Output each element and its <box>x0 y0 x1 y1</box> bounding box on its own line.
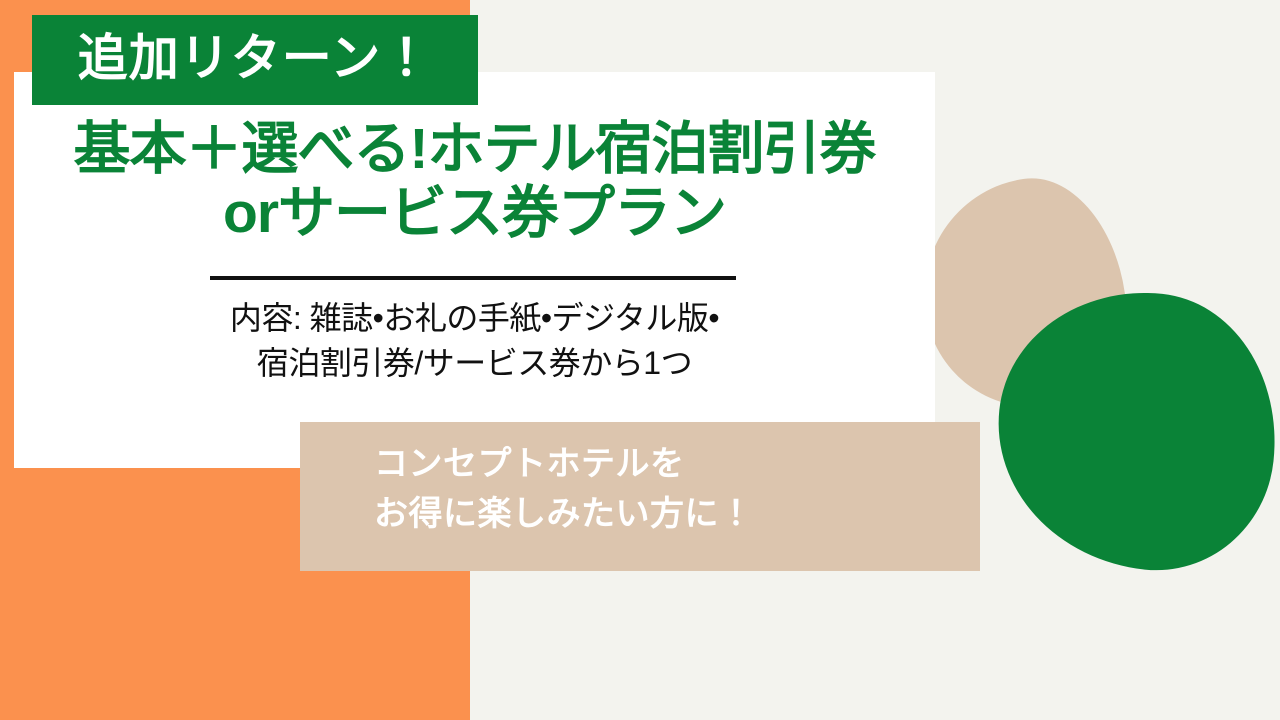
additional-return-badge: 追加リターン！ <box>32 15 478 105</box>
promo-banner: 追加リターン！ 基本＋選べる!ホテル宿泊割引券 orサービス券プラン 内容: 雑… <box>0 0 1280 720</box>
plan-title: 基本＋選べる!ホテル宿泊割引券 orサービス券プラン <box>14 118 935 246</box>
plan-contents-line-1: 内容: 雑誌•お礼の手紙•デジタル版• <box>14 296 935 341</box>
audience-callout-line-1: コンセプトホテルを <box>374 440 980 490</box>
plan-title-line-1: 基本＋選べる!ホテル宿泊割引券 <box>14 118 935 182</box>
audience-callout-text: コンセプトホテルを お得に楽しみたい方に！ <box>374 440 980 539</box>
audience-callout-line-2: お得に楽しみたい方に！ <box>374 490 980 540</box>
plan-contents-description: 内容: 雑誌•お礼の手紙•デジタル版• 宿泊割引券/サービス券から1つ <box>14 296 935 387</box>
badge-label: 追加リターン！ <box>78 33 433 83</box>
plan-title-line-2: orサービス券プラン <box>14 182 935 246</box>
plan-contents-line-2: 宿泊割引券/サービス券から1つ <box>14 341 935 386</box>
title-divider <box>210 276 736 280</box>
